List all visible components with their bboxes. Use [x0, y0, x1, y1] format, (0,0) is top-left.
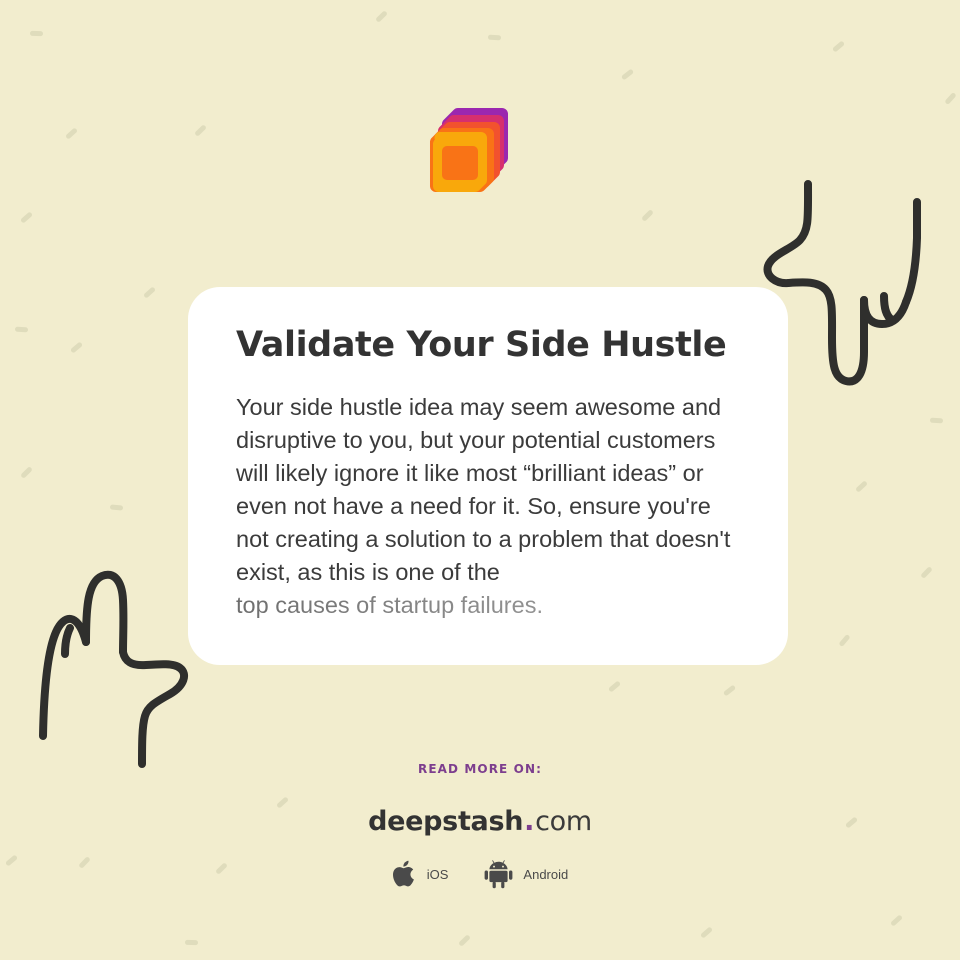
- background-speck: [832, 40, 845, 52]
- background-speck: [723, 685, 736, 697]
- brand-wordmark[interactable]: deepstash.com: [0, 806, 960, 837]
- idea-card: Validate Your Side Hustle Your side hust…: [188, 287, 788, 665]
- ios-store-label: iOS: [427, 867, 449, 882]
- background-speck: [15, 327, 28, 333]
- background-speck: [185, 940, 198, 945]
- background-speck: [458, 934, 471, 947]
- background-speck: [608, 680, 621, 692]
- background-speck: [641, 209, 654, 222]
- background-speck: [930, 418, 943, 424]
- brand-name: deepstash: [368, 806, 523, 837]
- background-speck: [20, 466, 33, 479]
- background-speck: [855, 480, 868, 493]
- background-speck: [70, 341, 83, 353]
- background-speck: [838, 634, 850, 647]
- background-speck: [194, 124, 207, 137]
- card-body-faded-line: top causes of startup failures.: [236, 589, 744, 622]
- background-speck: [621, 69, 634, 81]
- background-speck: [20, 211, 33, 223]
- footer: READ MORE ON: deepstash.com iOS: [0, 762, 960, 889]
- background-speck: [944, 92, 956, 105]
- background-speck: [890, 914, 903, 926]
- app-store-badges: iOS Android: [0, 859, 960, 889]
- android-store-label: Android: [523, 867, 568, 882]
- background-speck: [920, 566, 933, 579]
- ios-store-badge[interactable]: iOS: [392, 859, 449, 889]
- background-speck: [110, 504, 123, 510]
- background-speck: [700, 926, 713, 938]
- android-icon: [484, 859, 514, 889]
- background-speck: [143, 286, 156, 298]
- background-speck: [30, 31, 43, 36]
- background-speck: [65, 127, 78, 139]
- background-speck: [375, 10, 388, 23]
- android-store-badge[interactable]: Android: [484, 859, 568, 889]
- card-body-visible: Your side hustle idea may seem awesome a…: [236, 394, 730, 585]
- apple-icon: [392, 859, 418, 889]
- page-title: Validate Your Side Hustle: [236, 325, 744, 365]
- deepstash-logo: [428, 103, 520, 195]
- brand-tld: com: [535, 806, 592, 837]
- deepstash-share-card: Validate Your Side Hustle Your side hust…: [0, 0, 960, 960]
- read-more-label: READ MORE ON:: [0, 762, 960, 776]
- hand-pointing-up-icon: [28, 564, 196, 778]
- background-speck: [488, 35, 501, 41]
- brand-dot: .: [523, 806, 535, 837]
- card-body-text: Your side hustle idea may seem awesome a…: [236, 391, 744, 622]
